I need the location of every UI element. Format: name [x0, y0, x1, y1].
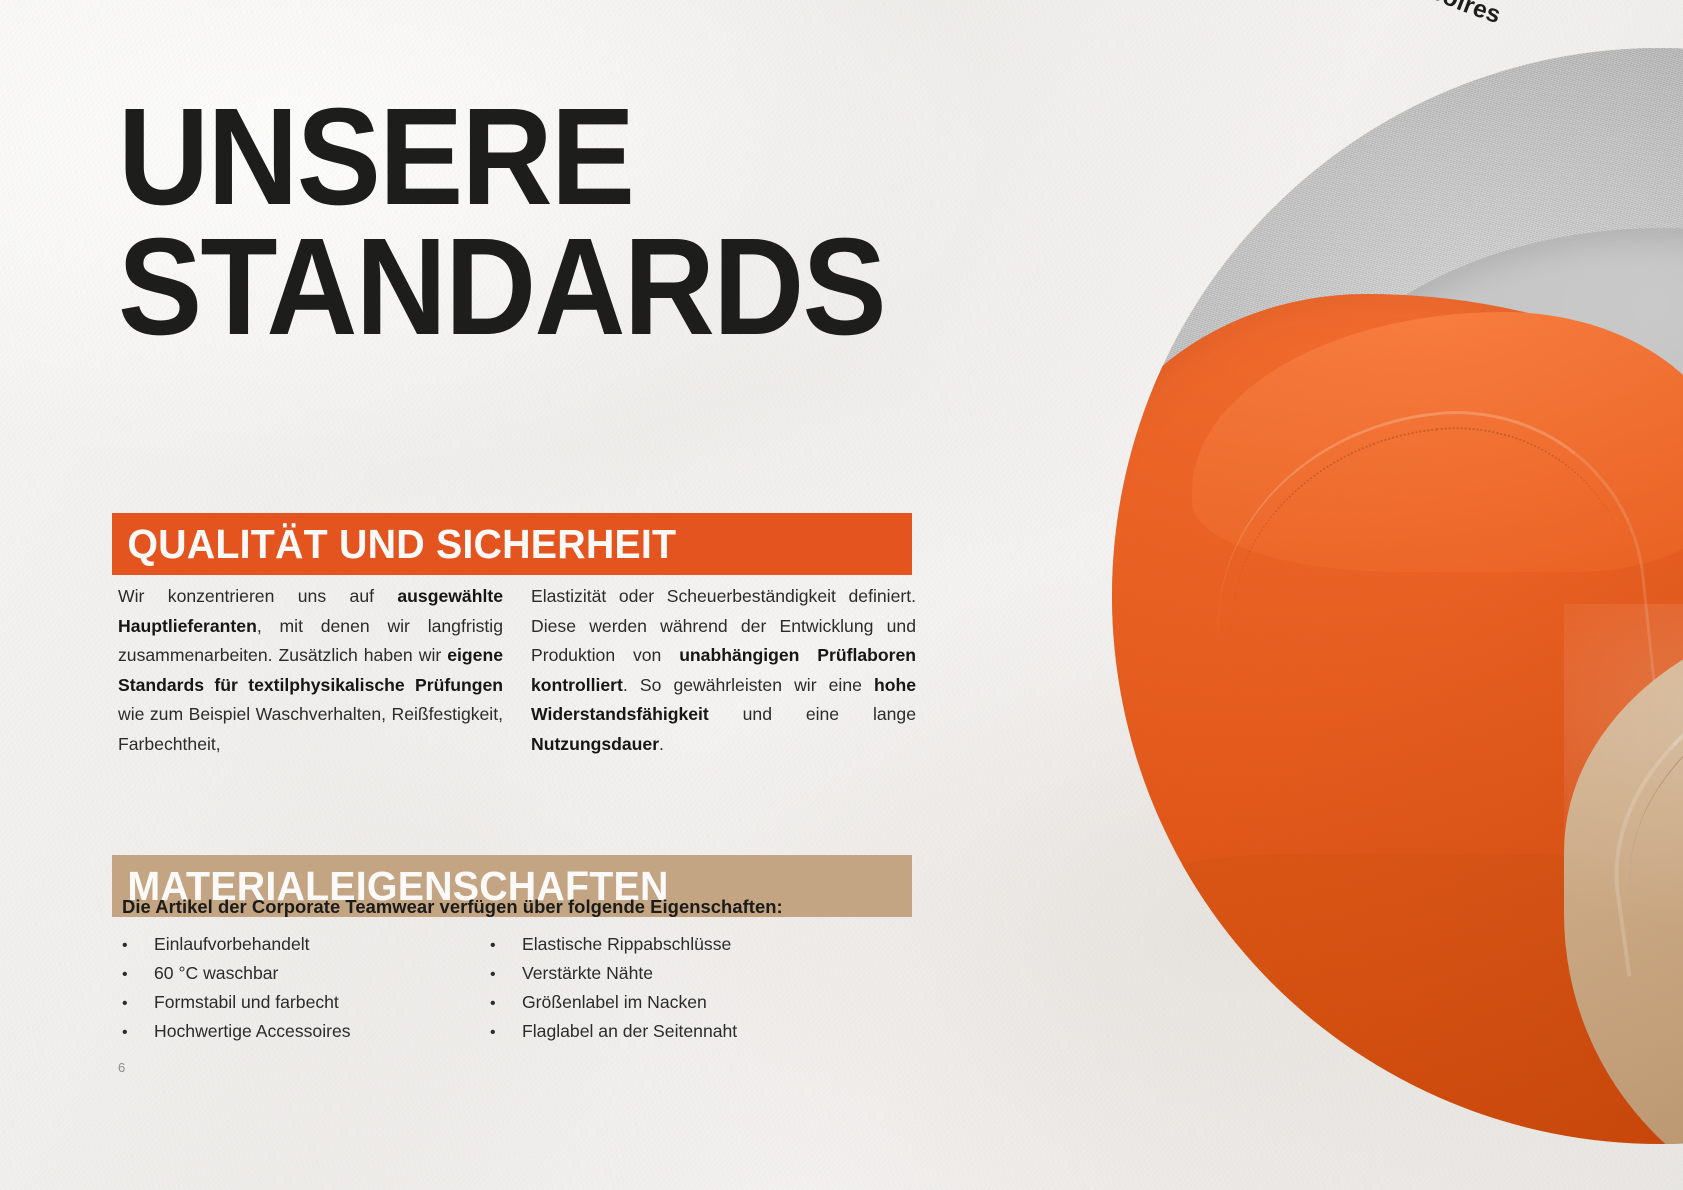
- material-bullet-label: Verstärkte Nähte: [522, 959, 653, 988]
- section-banner-quality-label: QUALITÄT UND SICHERHEIT: [112, 521, 676, 568]
- material-bullet-item: •Flaglabel an der Seitennaht: [490, 1017, 858, 1046]
- material-bullet-label: Größenlabel im Nacken: [522, 988, 707, 1017]
- material-bullet-label: Elastische Rippabschlüsse: [522, 930, 731, 959]
- material-bullet-item: •Elastische Rippabschlüsse: [490, 930, 858, 959]
- ring-text-content: Einlaufvorbehandelt | 60 °C waschbar | F…: [1106, 0, 1504, 29]
- material-bullet-list-left: •Einlaufvorbehandelt•60 °C waschbar•Form…: [122, 930, 490, 1046]
- bullet-dot-icon: •: [122, 962, 154, 988]
- product-photo-circle: [1112, 48, 1683, 1144]
- material-bullet-label: Flaglabel an der Seitennaht: [522, 1017, 737, 1046]
- material-bullet-item: •Einlaufvorbehandelt: [122, 930, 490, 959]
- bullet-dot-icon: •: [122, 991, 154, 1017]
- material-bullet-item: •60 °C waschbar: [122, 959, 490, 988]
- material-bullet-label: Hochwertige Accessoires: [154, 1017, 351, 1046]
- quality-body-columns: Wir konzentrieren uns auf ausgewählte Ha…: [118, 582, 923, 759]
- page-title: UNSERE STANDARDS: [118, 92, 978, 353]
- bullet-dot-icon: •: [122, 933, 154, 959]
- material-bullet-list-right: •Elastische Rippabschlüsse•Verstärkte Nä…: [490, 930, 858, 1046]
- bullet-dot-icon: •: [490, 933, 522, 959]
- camel-tee: [1564, 604, 1683, 1144]
- bullet-dot-icon: •: [490, 962, 522, 988]
- bullet-dot-icon: •: [490, 991, 522, 1017]
- section-banner-quality: QUALITÄT UND SICHERHEIT: [112, 513, 912, 575]
- material-bullet-label: Einlaufvorbehandelt: [154, 930, 310, 959]
- material-bullet-item: •Hochwertige Accessoires: [122, 1017, 490, 1046]
- product-photo-composite: [1112, 48, 1683, 1144]
- material-bullet-item: •Verstärkte Nähte: [490, 959, 858, 988]
- brochure-page: Einlaufvorbehandelt | 60 °C waschbar | F…: [0, 0, 1683, 1190]
- page-number: 6: [118, 1060, 125, 1075]
- quality-paragraph-left: Wir konzentrieren uns auf ausgewählte Ha…: [118, 582, 503, 759]
- material-intro-text: Die Artikel der Corporate Teamwear verfü…: [122, 896, 783, 918]
- material-bullet-item: •Größenlabel im Nacken: [490, 988, 858, 1017]
- material-bullet-label: 60 °C waschbar: [154, 959, 278, 988]
- bullet-dot-icon: •: [490, 1020, 522, 1046]
- quality-paragraph-right: Elastizität oder Scheuerbeständigkeit de…: [531, 582, 916, 759]
- material-bullet-item: •Formstabil und farbecht: [122, 988, 490, 1017]
- bullet-dot-icon: •: [122, 1020, 154, 1046]
- material-properties-lists: •Einlaufvorbehandelt•60 °C waschbar•Form…: [122, 930, 912, 1046]
- material-bullet-label: Formstabil und farbecht: [154, 988, 339, 1017]
